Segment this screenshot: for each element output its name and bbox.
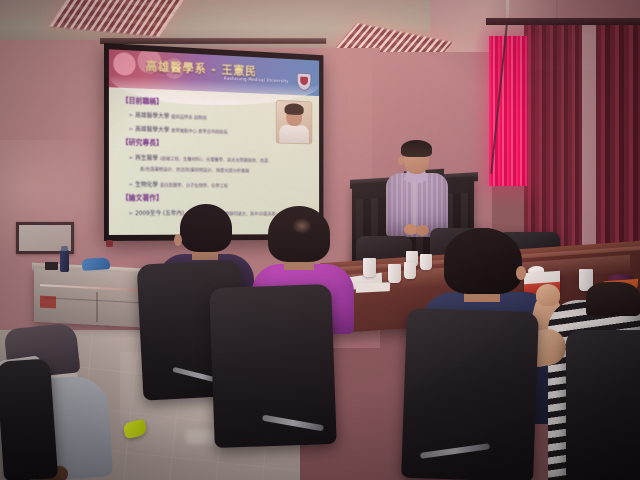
bullet-arrow-icon: ➢ xyxy=(128,210,133,217)
curtain-backlit xyxy=(489,36,527,186)
floor-light-reflection xyxy=(186,430,216,444)
bullet-detail: 產學推動中心 產學合作組組長 xyxy=(171,129,228,135)
paper-cup xyxy=(404,262,416,279)
bullet-text: 素/抗菌藥物設計、抗造劑/藥劑物設計、微量光譜分析儀器 xyxy=(140,168,249,175)
bullet-text: 高雄醫學大學 xyxy=(135,126,169,134)
bullet-arrow-icon: ➢ xyxy=(128,155,133,162)
crest-inner xyxy=(300,76,308,85)
slide-bullet: ➢ 高雄醫學大學 臺師品學系 副教授 xyxy=(128,110,206,121)
bullet-detail: 蛋白質體學、分子生物學、化學工程 xyxy=(160,184,228,190)
attendee-head xyxy=(268,206,330,262)
portrait-hair xyxy=(285,103,304,115)
portrait-body xyxy=(279,125,309,145)
bullet-text: 生物化學 xyxy=(135,181,158,188)
attendee-scalp xyxy=(292,218,312,234)
attendee-ear xyxy=(516,266,526,280)
conference-room-photo: 高雄醫學系 - 王憲民 Kaohsiung Medical University… xyxy=(0,0,640,480)
presenter-hair xyxy=(401,140,432,157)
blue-plastic-bag xyxy=(82,257,111,271)
slide-bullet: ➢ 高雄醫學大學 產學推動中心 產學合作組組長 xyxy=(128,124,227,136)
bullet-text: 高雄醫學大學 xyxy=(135,112,169,120)
attendee-head xyxy=(180,204,232,252)
paper-cup xyxy=(363,258,376,277)
bullet-arrow-icon: ➢ xyxy=(128,112,133,119)
slide-section-heading: 【研究專長】 xyxy=(122,137,163,148)
bullet-detail: 臺師品學系 副教授 xyxy=(171,115,207,121)
presenter-ear xyxy=(398,156,404,165)
slide-portrait-photo xyxy=(276,100,312,144)
thermos-bottle xyxy=(60,250,69,272)
bottle-cap xyxy=(61,246,68,251)
slide-bullet: ➢ 生物化學 蛋白質體學、分子生物學、化學工程 xyxy=(128,179,228,189)
slide-bullet: ➢ 再生醫學 (組織工程、生醫材料)、光電醫學、高光光學顯微術、抗菌 xyxy=(128,153,268,165)
slide-section-heading: 【目前職稱】 xyxy=(122,96,163,107)
attendee-ear xyxy=(174,234,182,246)
cabinet-divider xyxy=(96,292,98,322)
screen-bottom-tab xyxy=(106,240,113,247)
attendee-far-right-head xyxy=(586,282,640,316)
slide-section-heading: 【論文著作】 xyxy=(122,193,163,203)
curtain-rail xyxy=(486,18,640,25)
office-chair xyxy=(566,330,640,480)
cabinet-small-box xyxy=(45,262,58,270)
bullet-arrow-icon: ➢ xyxy=(128,181,133,188)
slide-bullet-continuation: 素/抗菌藥物設計、抗造劑/藥劑物設計、微量光譜分析儀器 xyxy=(140,166,249,175)
bullet-arrow-icon: ➢ xyxy=(128,126,133,133)
bullet-detail: (組織工程、生醫材料)、光電醫學、高光光學顯微術、抗菌 xyxy=(160,157,268,164)
papers-on-table xyxy=(356,282,390,293)
screen-mount-bar xyxy=(100,38,326,44)
attendee-hand xyxy=(536,284,560,306)
curtain-middle xyxy=(524,18,582,258)
office-chair xyxy=(0,358,58,480)
bullet-text: 再生醫學 xyxy=(135,155,158,162)
attendee-head xyxy=(444,228,522,294)
paper-cup xyxy=(388,264,401,283)
